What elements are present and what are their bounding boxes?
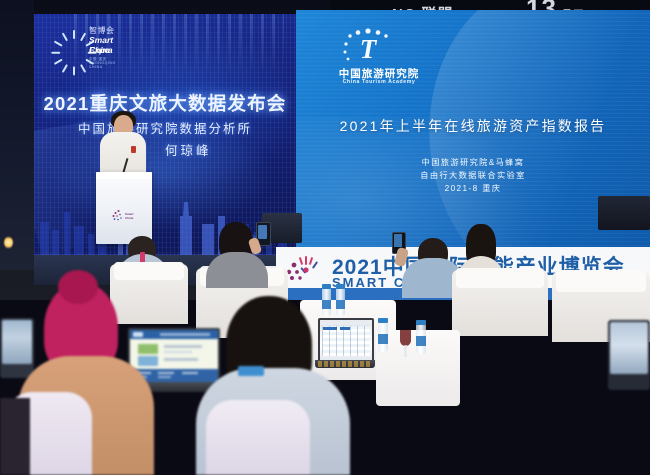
left-wall bbox=[0, 0, 34, 270]
wine-glass bbox=[400, 330, 411, 346]
right-screen-title: 2021年上半年在线旅游资产指数报告 bbox=[296, 116, 650, 136]
china-tourism-academy-logo: T 中国旅游研究院 China Tourism Academy bbox=[324, 28, 434, 90]
monitor-right-screen bbox=[610, 322, 648, 374]
bottle-label-2 bbox=[336, 300, 345, 309]
bottle-label-1 bbox=[322, 300, 331, 309]
photographer-body bbox=[206, 252, 268, 288]
foreground-shadow bbox=[0, 398, 30, 475]
conference-photo: NO.联盟 13 号厅 bbox=[0, 0, 650, 475]
stage-monitor-speaker-right bbox=[598, 196, 650, 230]
cta-emblem-icon: T bbox=[324, 28, 434, 66]
bottle-cap-1 bbox=[322, 284, 331, 289]
smartphone-screen bbox=[258, 225, 267, 239]
speaker-badge bbox=[131, 146, 136, 153]
bottle-cap-2 bbox=[336, 284, 345, 289]
expo-logo-tagline: 中国·重庆 CHONGQING CHINA bbox=[89, 56, 130, 69]
attendee-dark-hair-lanyard bbox=[238, 366, 264, 376]
bottle-label-3 bbox=[378, 334, 388, 344]
monitor-left[interactable] bbox=[0, 318, 34, 378]
left-screen-title: 2021重庆文旅大数据发布会 bbox=[34, 90, 296, 116]
svg-text:Smart: Smart bbox=[125, 212, 134, 216]
smartphone-second-screen bbox=[394, 234, 402, 247]
bottle-label-4 bbox=[416, 336, 426, 346]
podium-top bbox=[96, 172, 152, 179]
podium-expo-logo: Smart China bbox=[111, 208, 137, 224]
laptop-keyboard bbox=[318, 361, 370, 367]
svg-text:China: China bbox=[125, 216, 134, 220]
left-screen-presenter: 所长 何琼峰 bbox=[34, 140, 296, 159]
expo-burst-icon bbox=[58, 26, 88, 56]
seat-lace-right-1 bbox=[456, 268, 544, 288]
podium: Smart China bbox=[96, 172, 152, 244]
left-screen-subtitle: 中国旅游研究院数据分析所 bbox=[34, 118, 296, 137]
seat-lace-left bbox=[114, 262, 184, 280]
monitor-left-screen bbox=[2, 320, 32, 364]
monitor-right[interactable] bbox=[608, 320, 650, 390]
bottle-cap-4 bbox=[416, 320, 426, 325]
warm-light-core bbox=[4, 236, 13, 249]
banner-burst-icon bbox=[286, 255, 322, 285]
smart-china-expo-logo: 智博会 Smart China Expo 中国·重庆 CHONGQING CHI… bbox=[58, 24, 130, 66]
seat-lace-right-2 bbox=[556, 270, 646, 292]
attendee-pink-hair-bun bbox=[58, 270, 98, 304]
laptop-spreadsheet-screen bbox=[318, 318, 374, 364]
laptop-spreadsheet[interactable] bbox=[318, 318, 378, 374]
bottle-cap-3 bbox=[378, 318, 388, 323]
cta-logo-en: China Tourism Academy bbox=[324, 79, 434, 85]
right-screen-credit-1: 中国旅游研究院&马蜂窝 bbox=[296, 156, 650, 168]
svg-text:T: T bbox=[360, 34, 378, 64]
right-screen-credit-2: 自由行大数据联合实验室 bbox=[296, 169, 650, 181]
right-led-screen: T 中国旅游研究院 China Tourism Academy 2021年上半年… bbox=[296, 10, 650, 258]
wine-glass-stem bbox=[404, 345, 407, 357]
right-screen-credit-3: 2021-8 重庆 bbox=[296, 182, 650, 194]
expo-logo-en-2: Expo bbox=[89, 45, 110, 55]
seat-front-right bbox=[206, 400, 310, 475]
